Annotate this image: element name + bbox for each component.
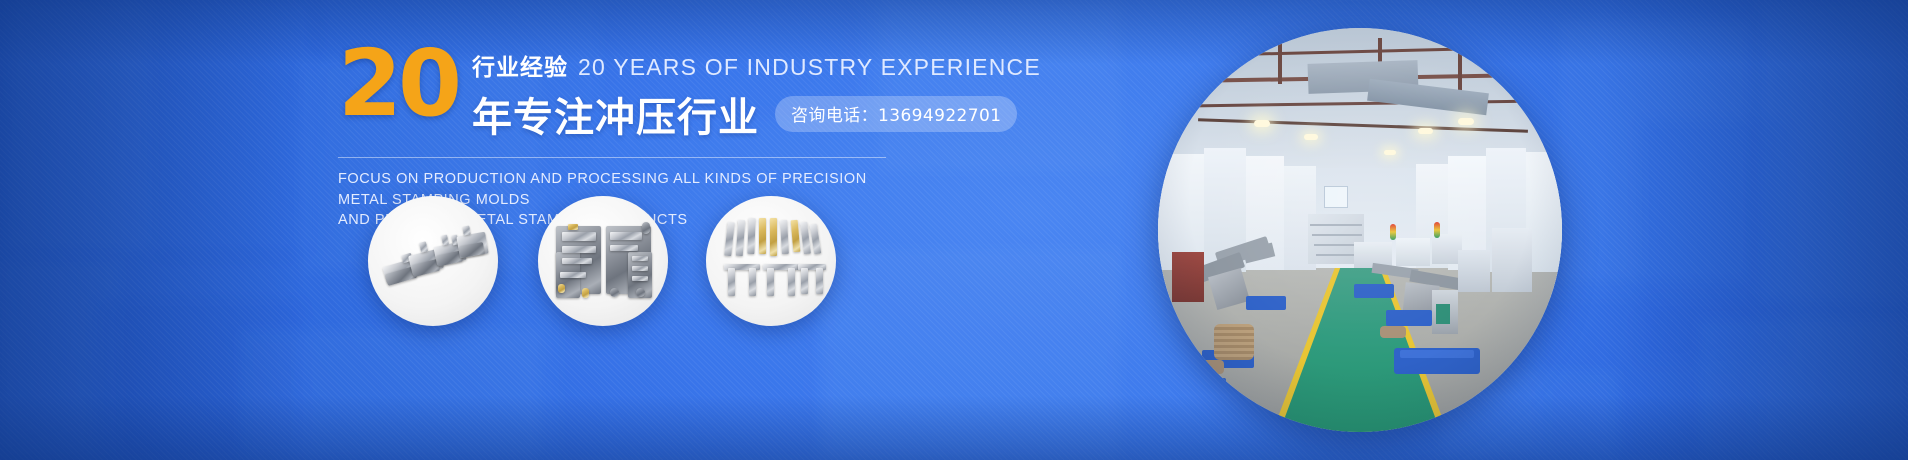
headline-line-2: 年专注冲压行业 咨询电话：13694922701 <box>472 85 1041 143</box>
headline-row: 20 行业经验 20 YEARS OF INDUSTRY EXPERIENCE … <box>338 42 898 143</box>
years-number: 20 <box>338 44 458 125</box>
phone-badge[interactable]: 咨询电话：13694922701 <box>775 96 1017 132</box>
promo-banner: 20 行业经验 20 YEARS OF INDUSTRY EXPERIENCE … <box>0 0 1908 460</box>
headline-text: 行业经验 20 YEARS OF INDUSTRY EXPERIENCE 年专注… <box>472 42 1041 143</box>
product-circle-metal-terminals[interactable] <box>706 196 836 326</box>
experience-label-cn: 行业经验 <box>472 48 568 82</box>
product-circle-stamping-molds[interactable] <box>538 196 668 326</box>
product-circle-usb-connectors[interactable] <box>368 196 498 326</box>
factory-photo-circle[interactable] <box>1158 28 1562 432</box>
divider-rule <box>338 157 886 158</box>
experience-label-en: 20 YEARS OF INDUSTRY EXPERIENCE <box>578 54 1041 81</box>
focus-label-cn: 年专注冲压行业 <box>472 85 759 143</box>
headline-line-1: 行业经验 20 YEARS OF INDUSTRY EXPERIENCE <box>472 48 1041 82</box>
